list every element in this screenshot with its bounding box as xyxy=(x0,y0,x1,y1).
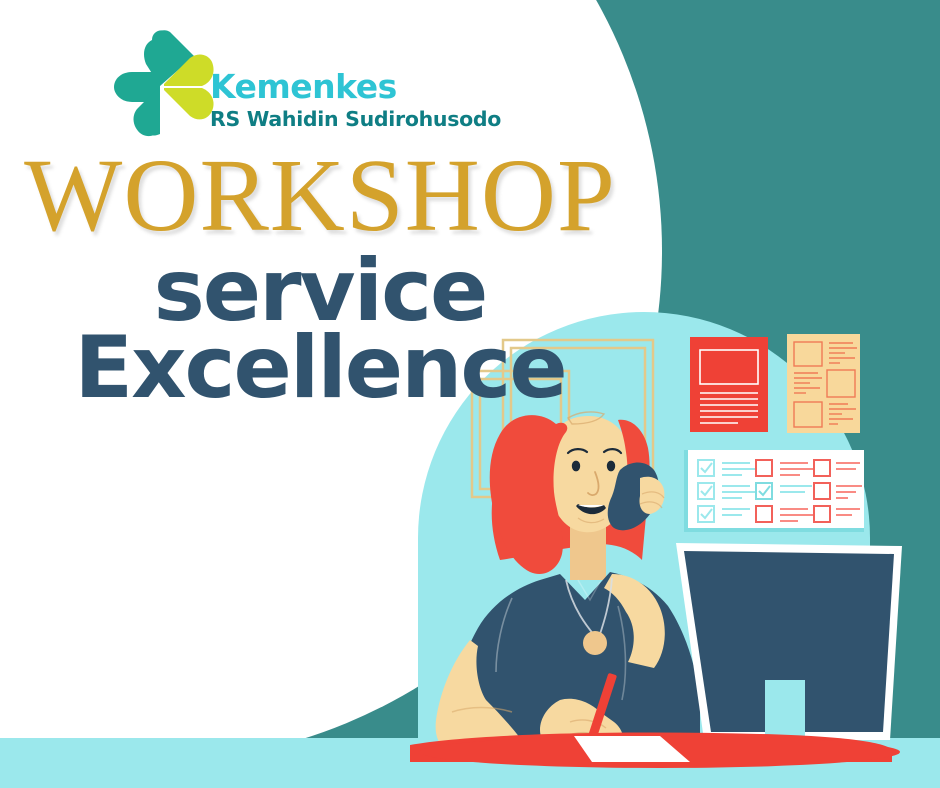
logo-wordmark: Kemenkes RS Wahidin Sudirohusodo xyxy=(210,70,501,130)
title-workshop: WORKSHOP xyxy=(0,148,640,244)
checklist-card xyxy=(684,450,864,532)
red-poster xyxy=(690,337,768,432)
logo-name: Kemenkes xyxy=(210,70,501,103)
necklace-pendant xyxy=(583,631,607,655)
poster-canvas: Kemenkes RS Wahidin Sudirohusodo WORKSHO… xyxy=(0,0,940,788)
page-title: WORKSHOP service Excellence xyxy=(0,148,640,410)
eye-right xyxy=(607,461,615,472)
kemenkes-flower-logo-icon xyxy=(112,30,222,140)
eye-left xyxy=(572,461,580,472)
hand-phone xyxy=(639,477,664,514)
kemenkes-logo: Kemenkes RS Wahidin Sudirohusodo xyxy=(112,30,512,140)
logo-subtitle: RS Wahidin Sudirohusodo xyxy=(210,109,501,130)
tan-poster xyxy=(787,334,860,433)
woman-on-phone xyxy=(436,412,700,752)
desktop-monitor xyxy=(676,543,902,760)
title-excellence: Excellence xyxy=(0,327,640,410)
